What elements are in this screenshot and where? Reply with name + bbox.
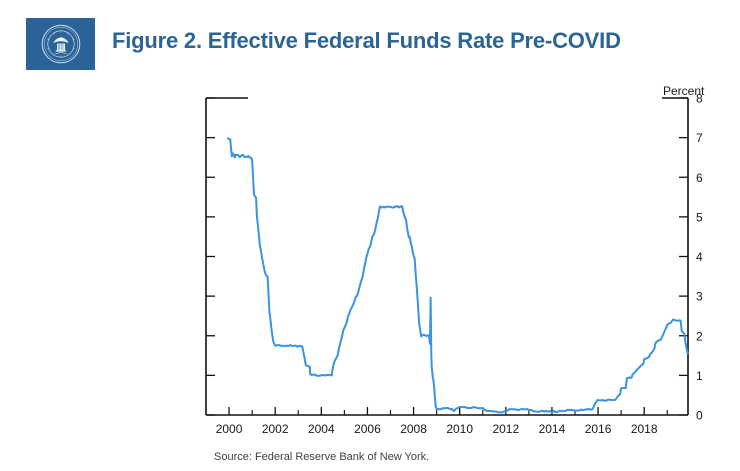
svg-text:2004: 2004 [308,422,335,436]
source-note: Source: Federal Reserve Bank of New York… [214,451,429,463]
svg-text:2002: 2002 [262,422,289,436]
svg-text:2014: 2014 [539,422,566,436]
x-axis-tick-labels: 2000200220042006200820102012201420162018 [216,422,658,436]
chart-container: 012345678 200020022004200620082010201220… [0,78,740,471]
svg-text:6: 6 [696,171,703,185]
svg-text:3: 3 [696,290,703,304]
svg-text:0: 0 [696,409,703,423]
federal-reserve-logo-box [26,18,95,70]
svg-text:2012: 2012 [492,422,519,436]
svg-text:5: 5 [696,210,703,224]
chart-ticks [206,98,688,415]
svg-text:2006: 2006 [354,422,381,436]
chart-axes [206,98,688,415]
svg-text:1: 1 [696,369,703,383]
y-axis-unit-label: Percent [663,84,704,98]
svg-text:2: 2 [696,329,703,343]
page-title: Figure 2. Effective Federal Funds Rate P… [112,28,621,54]
federal-reserve-seal-icon [41,24,81,64]
svg-text:2018: 2018 [631,422,658,436]
svg-text:2016: 2016 [585,422,612,436]
svg-text:2000: 2000 [216,422,243,436]
data-line-effective-federal-funds-rate [228,138,688,412]
y-axis-tick-labels: 012345678 [696,92,703,423]
svg-text:2010: 2010 [446,422,473,436]
svg-text:2008: 2008 [400,422,427,436]
svg-text:7: 7 [696,131,703,145]
figure-page: Figure 2. Effective Federal Funds Rate P… [0,0,740,471]
data-series-group [228,138,688,412]
funds-rate-line-chart: 012345678 200020022004200620082010201220… [0,78,740,471]
svg-text:4: 4 [696,250,703,264]
figure-header: Figure 2. Effective Federal Funds Rate P… [0,0,740,78]
